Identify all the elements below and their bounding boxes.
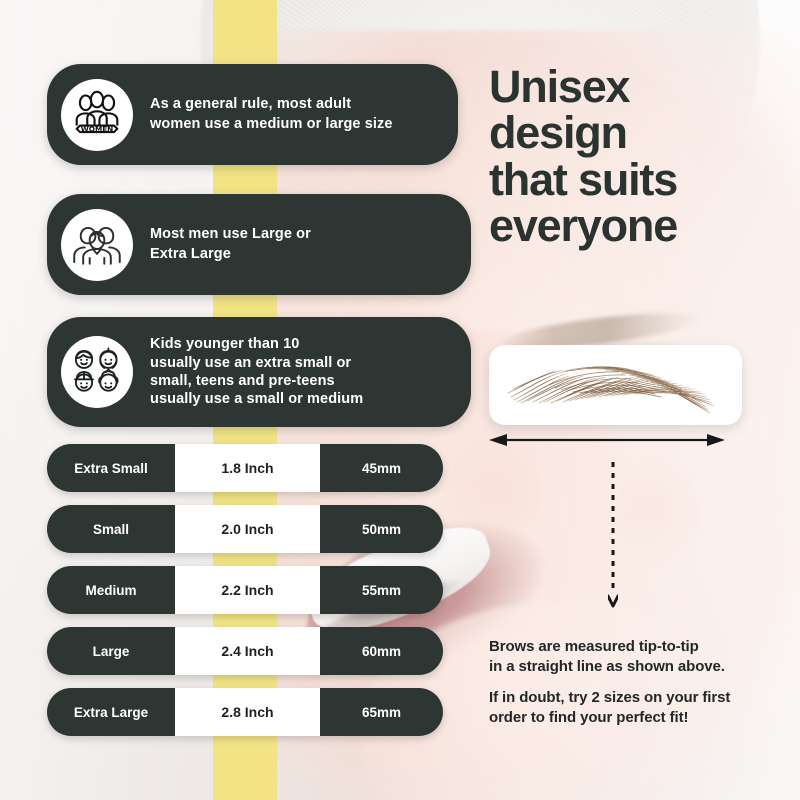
svg-text:WOMEN: WOMEN bbox=[81, 124, 114, 133]
row-size-label: Extra Large bbox=[47, 688, 175, 736]
row-inch-value: 2.2 Inch bbox=[175, 566, 320, 614]
row-inch-value: 2.4 Inch bbox=[175, 627, 320, 675]
three-women-group-icon: WOMEN bbox=[61, 79, 133, 151]
table-row: Medium 2.2 Inch 55mm bbox=[47, 566, 443, 614]
measurement-note: Brows are measured tip-to-tip in a strai… bbox=[489, 637, 725, 676]
table-row: Large 2.4 Inch 60mm bbox=[47, 627, 443, 675]
row-size-label: Small bbox=[47, 505, 175, 553]
row-mm-value: 55mm bbox=[320, 566, 443, 614]
dashed-down-arrow bbox=[608, 462, 618, 610]
row-size-label: Large bbox=[47, 627, 175, 675]
row-inch-value: 1.8 Inch bbox=[175, 444, 320, 492]
double-headed-measure-arrow bbox=[489, 432, 725, 448]
table-row: Extra Large 2.8 Inch 65mm bbox=[47, 688, 443, 736]
table-row: Small 2.0 Inch 50mm bbox=[47, 505, 443, 553]
four-kids-faces-icon bbox=[61, 336, 133, 408]
row-mm-value: 65mm bbox=[320, 688, 443, 736]
info-card-men: Most men use Large or Extra Large bbox=[47, 194, 471, 295]
row-mm-value: 50mm bbox=[320, 505, 443, 553]
infographic-canvas: WOMEN As a general rule, most adult wome… bbox=[0, 0, 800, 800]
row-size-label: Extra Small bbox=[47, 444, 175, 492]
sizing-advice-note: If in doubt, try 2 sizes on your first o… bbox=[489, 688, 730, 727]
info-card-text: Kids younger than 10 usually use an extr… bbox=[150, 335, 363, 409]
row-mm-value: 60mm bbox=[320, 627, 443, 675]
row-size-label: Medium bbox=[47, 566, 175, 614]
table-row: Extra Small 1.8 Inch 45mm bbox=[47, 444, 443, 492]
info-card-text: As a general rule, most adult women use … bbox=[150, 95, 393, 133]
page-title: Unisex design that suits everyone bbox=[489, 64, 789, 249]
info-card-text: Most men use Large or Extra Large bbox=[150, 225, 311, 263]
row-mm-value: 45mm bbox=[320, 444, 443, 492]
row-inch-value: 2.0 Inch bbox=[175, 505, 320, 553]
eyebrow-product-image bbox=[489, 345, 742, 425]
info-card-women: WOMEN As a general rule, most adult wome… bbox=[47, 64, 458, 165]
info-card-kids: Kids younger than 10 usually use an extr… bbox=[47, 317, 471, 427]
eyebrow-product-card bbox=[489, 345, 742, 425]
three-men-group-icon bbox=[61, 209, 133, 281]
row-inch-value: 2.8 Inch bbox=[175, 688, 320, 736]
